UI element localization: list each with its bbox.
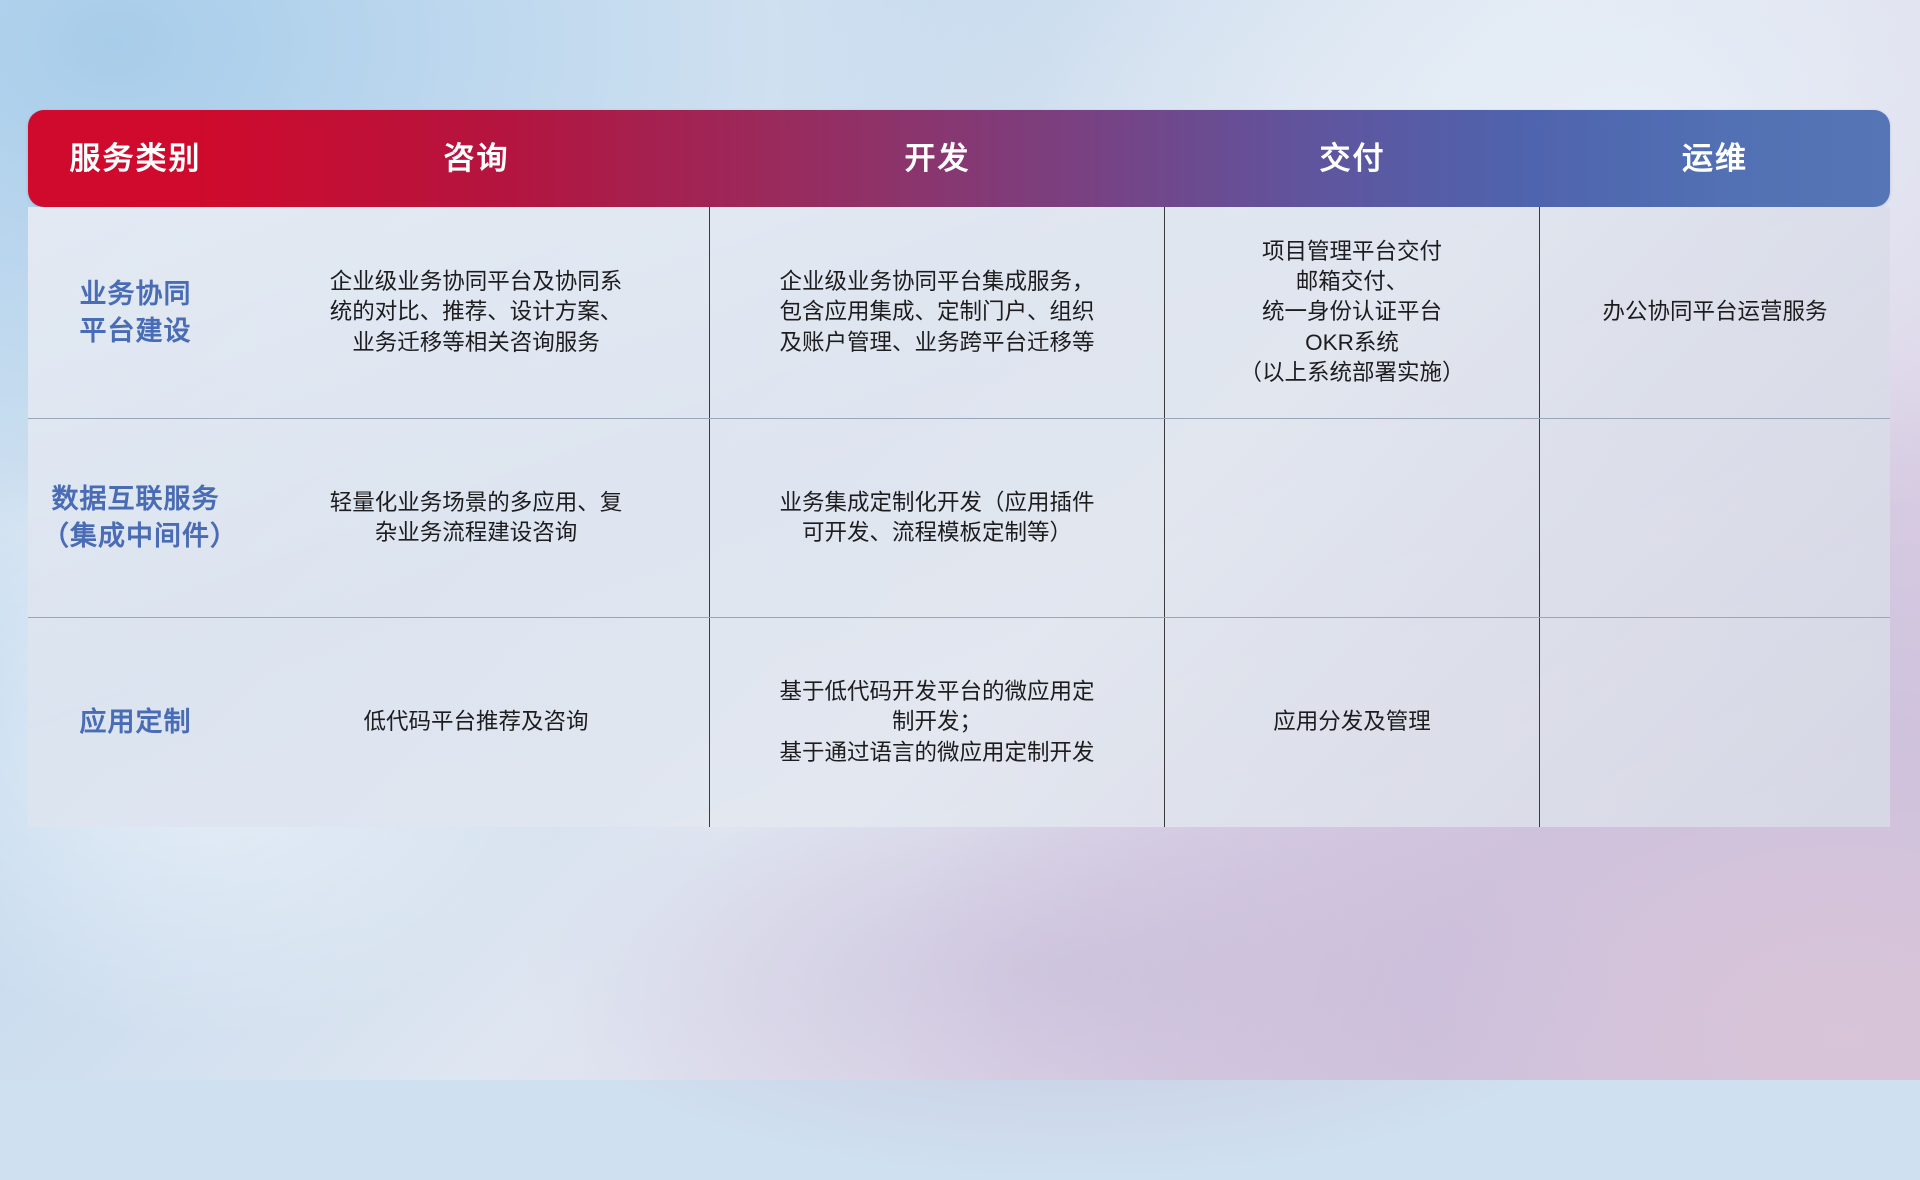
- row-category-label: 应用定制: [28, 618, 243, 827]
- table-row: 数据互联服务 （集成中间件） 轻量化业务场景的多应用、复 杂业务流程建设咨询 业…: [28, 419, 1890, 618]
- cell-ops: [1540, 419, 1890, 617]
- table-row: 业务协同 平台建设 企业级业务协同平台及协同系 统的对比、推荐、设计方案、 业务…: [28, 207, 1890, 419]
- table-body: 业务协同 平台建设 企业级业务协同平台及协同系 统的对比、推荐、设计方案、 业务…: [28, 207, 1890, 827]
- cell-consult: 企业级业务协同平台及协同系 统的对比、推荐、设计方案、 业务迁移等相关咨询服务: [243, 207, 710, 418]
- cell-develop: 业务集成定制化开发（应用插件 可开发、流程模板定制等）: [710, 419, 1165, 617]
- cell-ops: 办公协同平台运营服务: [1540, 207, 1890, 418]
- column-header-consult: 咨询: [243, 143, 710, 174]
- cell-develop: 基于低代码开发平台的微应用定 制开发； 基于通过语言的微应用定制开发: [710, 618, 1165, 827]
- table-header-row: 服务类别 咨询 开发 交付 运维: [28, 110, 1890, 207]
- service-matrix-table: 服务类别 咨询 开发 交付 运维 业务协同 平台建设 企业级业务协同平台及协同系…: [28, 110, 1890, 968]
- cell-deliver: [1165, 419, 1540, 617]
- column-header-category: 服务类别: [28, 143, 243, 174]
- table-row: 应用定制 低代码平台推荐及咨询 基于低代码开发平台的微应用定 制开发； 基于通过…: [28, 618, 1890, 827]
- row-category-label: 业务协同 平台建设: [28, 207, 243, 418]
- column-header-ops: 运维: [1540, 143, 1890, 174]
- cell-deliver: 项目管理平台交付 邮箱交付、 统一身份认证平台 OKR系统 （以上系统部署实施）: [1165, 207, 1540, 418]
- cell-deliver: 应用分发及管理: [1165, 618, 1540, 827]
- cell-consult: 轻量化业务场景的多应用、复 杂业务流程建设咨询: [243, 419, 710, 617]
- cell-develop: 企业级业务协同平台集成服务， 包含应用集成、定制门户、组织 及账户管理、业务跨平…: [710, 207, 1165, 418]
- row-category-label: 数据互联服务 （集成中间件）: [28, 419, 243, 617]
- cell-consult: 低代码平台推荐及咨询: [243, 618, 710, 827]
- column-header-deliver: 交付: [1165, 143, 1540, 174]
- cell-ops: [1540, 618, 1890, 827]
- column-header-develop: 开发: [710, 143, 1165, 174]
